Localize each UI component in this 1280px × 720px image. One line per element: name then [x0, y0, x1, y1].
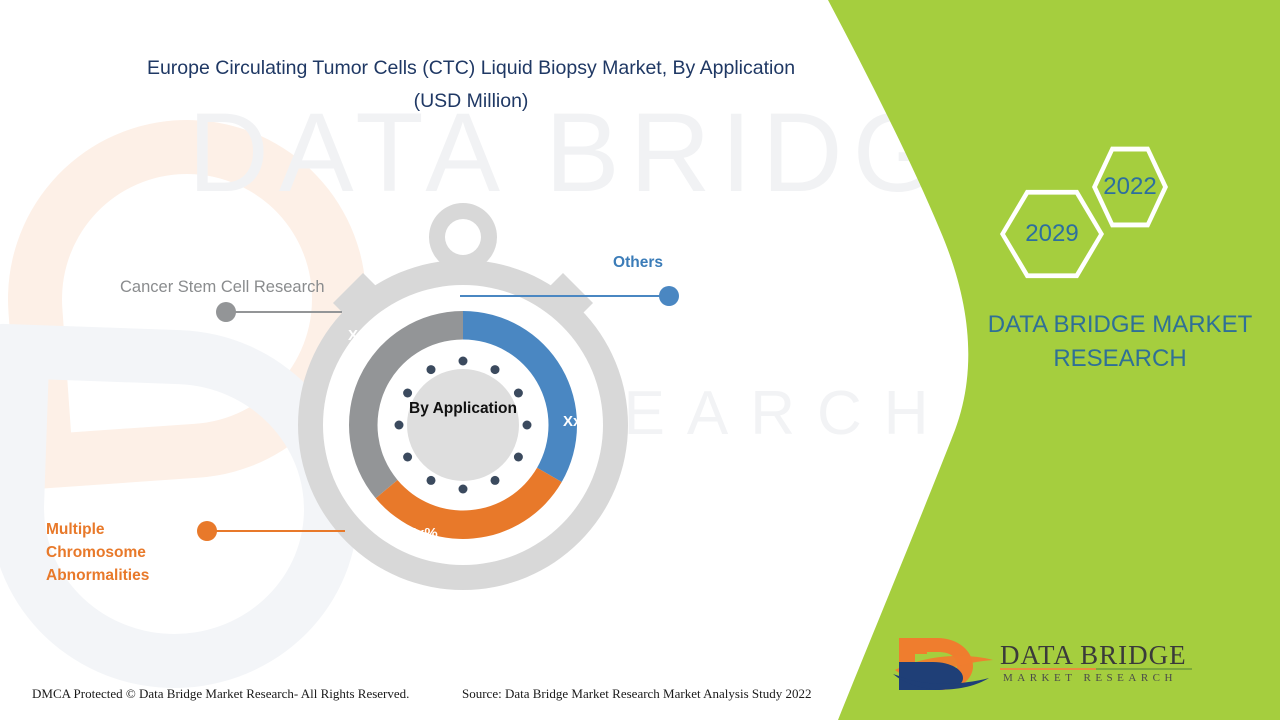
panel-brand-line1: DATA BRIDGE MARKET — [960, 308, 1280, 342]
donut-segments — [263, 195, 663, 595]
segment-label-cancer-stem-cell-research: Xx% — [348, 327, 380, 344]
hexagon-2022-label: 2022 — [1103, 173, 1156, 201]
callout-label-cancer-stem-cell-research: Cancer Stem Cell Research — [120, 278, 325, 297]
callout-line-cancer-stem-cell-research — [232, 311, 342, 313]
logo-wordmark: DATA BRIDGE — [1000, 640, 1187, 671]
hexagon-2029-label: 2029 — [1025, 220, 1078, 248]
segment-label-others: Xx — [563, 413, 581, 430]
callout-dot-cancer-stem-cell-research — [216, 302, 236, 322]
footer-copyright: DMCA Protected © Data Bridge Market Rese… — [32, 686, 409, 702]
panel-brand: DATA BRIDGE MARKET RESEARCH — [960, 308, 1280, 376]
page-title-line2: (USD Million) — [62, 85, 880, 118]
footer: DMCA Protected © Data Bridge Market Rese… — [0, 674, 1280, 720]
donut-chart: By Application Xx% Xx Xx% — [263, 195, 663, 595]
callout-line-multiple-chromosome-abnormalities — [215, 530, 345, 532]
donut-center-plate — [407, 369, 519, 481]
page-title-line1: Europe Circulating Tumor Cells (CTC) Liq… — [62, 52, 880, 85]
footer-source: Source: Data Bridge Market Research Mark… — [462, 686, 811, 702]
logo-rule-orange — [1000, 668, 1096, 670]
donut-center-label: By Application — [363, 400, 563, 418]
infographic-canvas: DATA BRIDGE RESEARCH Europe Circulating … — [0, 0, 1280, 720]
page-title: Europe Circulating Tumor Cells (CTC) Liq… — [62, 52, 880, 118]
segment-label-multiple-chromosome-abnormalities: Xx% — [406, 525, 438, 542]
callout-dot-multiple-chromosome-abnormalities — [197, 521, 217, 541]
logo-rule-green — [1096, 668, 1192, 670]
hexagon-2029: 2029 — [1000, 188, 1104, 280]
callout-line-others — [460, 295, 670, 297]
callout-dot-others — [659, 286, 679, 306]
callout-label-multiple-chromosome-abnormalities: Multiple Chromosome Abnormalities — [46, 518, 186, 587]
panel-brand-line2: RESEARCH — [960, 342, 1280, 376]
callout-label-others: Others — [613, 254, 663, 272]
